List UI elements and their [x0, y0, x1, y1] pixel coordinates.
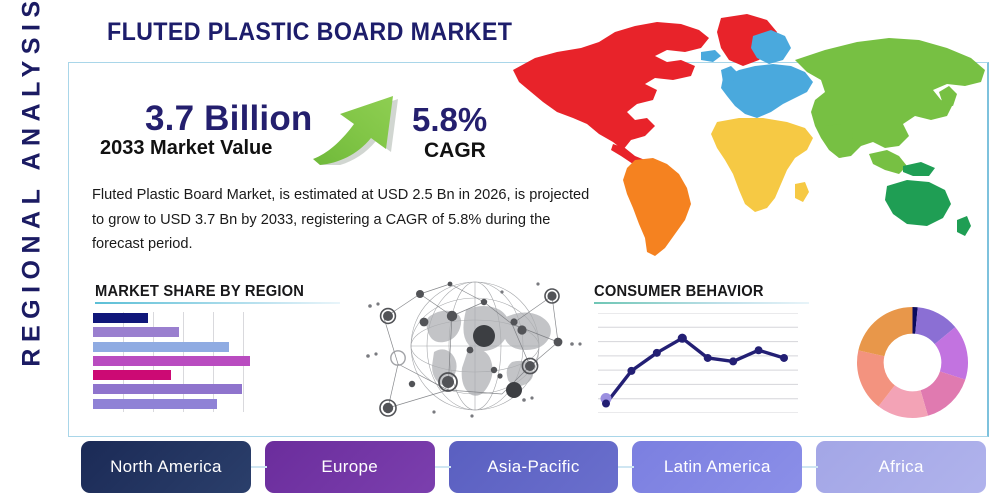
region-button-label: Latin America — [664, 457, 771, 477]
kpi-cagr-value: 5.8% — [412, 101, 487, 139]
line-data-point — [653, 349, 661, 357]
map-region-oceania — [885, 180, 951, 226]
consumer-behavior-divider — [594, 302, 809, 304]
region-button-north-america[interactable]: North America — [81, 441, 251, 493]
kpi-market-value: 3.7 Billion — [145, 99, 313, 139]
consumer-behavior-line-chart — [598, 313, 798, 413]
line-data-point — [755, 346, 763, 354]
world-map — [495, 8, 995, 260]
map-region-north-america — [513, 22, 709, 150]
side-vertical-label: REGIONAL ANALYSIS — [18, 0, 47, 381]
bar-row — [93, 313, 148, 323]
line-data-point — [678, 334, 687, 343]
market-share-heading: MARKET SHARE BY REGION — [95, 283, 304, 301]
region-button-africa[interactable]: Africa — [816, 441, 986, 493]
region-button-asia-pacific[interactable]: Asia-Pacific — [449, 441, 619, 493]
map-region-new-guinea — [903, 162, 935, 176]
map-region-iceland — [701, 50, 721, 62]
line-data-point — [704, 354, 712, 362]
map-region-south-america — [623, 158, 691, 256]
global-network-icon — [362, 266, 587, 428]
region-button-latin-america[interactable]: Latin America — [632, 441, 802, 493]
market-share-divider — [95, 302, 340, 304]
region-button-europe[interactable]: Europe — [265, 441, 435, 493]
donut-segment — [921, 371, 966, 415]
market-share-bar-chart — [93, 312, 273, 412]
kpi-market-value-label: 2033 Market Value — [100, 137, 272, 160]
donut-chart-svg — [856, 306, 969, 419]
region-button-label: Europe — [321, 457, 378, 477]
bar-row — [93, 327, 179, 337]
region-button-label: North America — [110, 457, 222, 477]
region-button-bar: North AmericaEuropeAsia-PacificLatin Ame… — [81, 441, 986, 493]
bar-row — [93, 399, 217, 409]
bar-row — [93, 384, 242, 394]
regional-donut-chart — [856, 306, 969, 419]
map-region-new-zealand — [957, 216, 971, 236]
line-data-point — [602, 400, 610, 408]
line-chart-svg — [598, 313, 798, 413]
page-title: FLUTED PLASTIC BOARD MARKET — [107, 18, 512, 47]
line-data-point — [627, 367, 635, 375]
line-data-point — [729, 357, 737, 365]
donut-segment — [858, 307, 912, 356]
map-region-sea — [869, 150, 907, 174]
line-data-point — [780, 354, 788, 362]
bar-row — [93, 370, 171, 380]
region-connector — [435, 466, 451, 468]
region-connector — [618, 466, 634, 468]
bar-row — [93, 356, 250, 366]
map-region-asia — [795, 38, 985, 158]
region-connector — [802, 466, 818, 468]
growth-arrow-icon — [307, 83, 404, 165]
map-region-madagascar — [795, 182, 809, 202]
bar-row — [93, 342, 229, 352]
region-button-label: Asia-Pacific — [487, 457, 579, 477]
region-connector — [251, 466, 267, 468]
region-button-label: Africa — [878, 457, 923, 477]
consumer-behavior-heading: CONSUMER BEHAVIOR — [594, 283, 764, 301]
kpi-cagr-label: CAGR — [424, 139, 486, 163]
